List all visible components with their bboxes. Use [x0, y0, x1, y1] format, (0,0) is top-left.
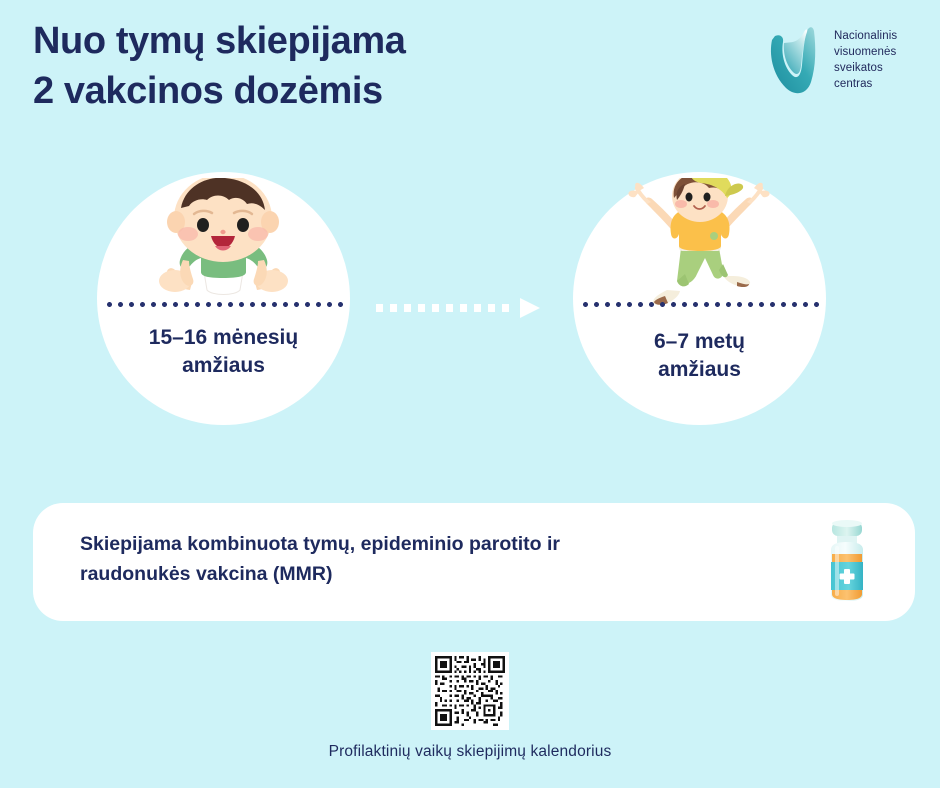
qr-caption: Profilaktinių vaikų skiepijimų kalendori…: [0, 743, 940, 761]
sitting-baby-illustration: [97, 178, 350, 306]
qr-block: Profilaktinių vaikų skiepijimų kalendori…: [0, 652, 940, 761]
stage-label-1: 15–16 mėnesių amžiaus: [109, 324, 338, 380]
vaccine-info-text: Skiepijama kombinuota tymų, epideminio p…: [80, 529, 760, 589]
header: Nuo tymų skiepijama 2 vakcinos dozėmis: [0, 0, 940, 150]
nvsc-logo-mark-icon: [762, 20, 830, 98]
page-title: Nuo tymų skiepijama 2 vakcinos dozėmis: [33, 16, 406, 116]
stage-label-2: 6–7 metų amžiaus: [585, 328, 814, 384]
stage-card-2: 6–7 metų amžiaus: [573, 172, 826, 425]
dashed-arrow-right-icon: [374, 297, 540, 319]
organization-logo: Nacionalinis visuomenės sveikatos centra…: [762, 20, 922, 100]
qr-code[interactable]: [431, 652, 509, 730]
stage-card-1: 15–16 mėnesių amžiaus: [97, 172, 350, 425]
jumping-boy-illustration: [573, 178, 826, 306]
vaccine-info-card: Skiepijama kombinuota tymų, epideminio p…: [33, 503, 915, 621]
organization-name: Nacionalinis visuomenės sveikatos centra…: [834, 29, 897, 92]
vaccine-vial-icon: [817, 520, 877, 604]
dotted-divider: [580, 302, 819, 307]
dotted-divider: [104, 302, 343, 307]
